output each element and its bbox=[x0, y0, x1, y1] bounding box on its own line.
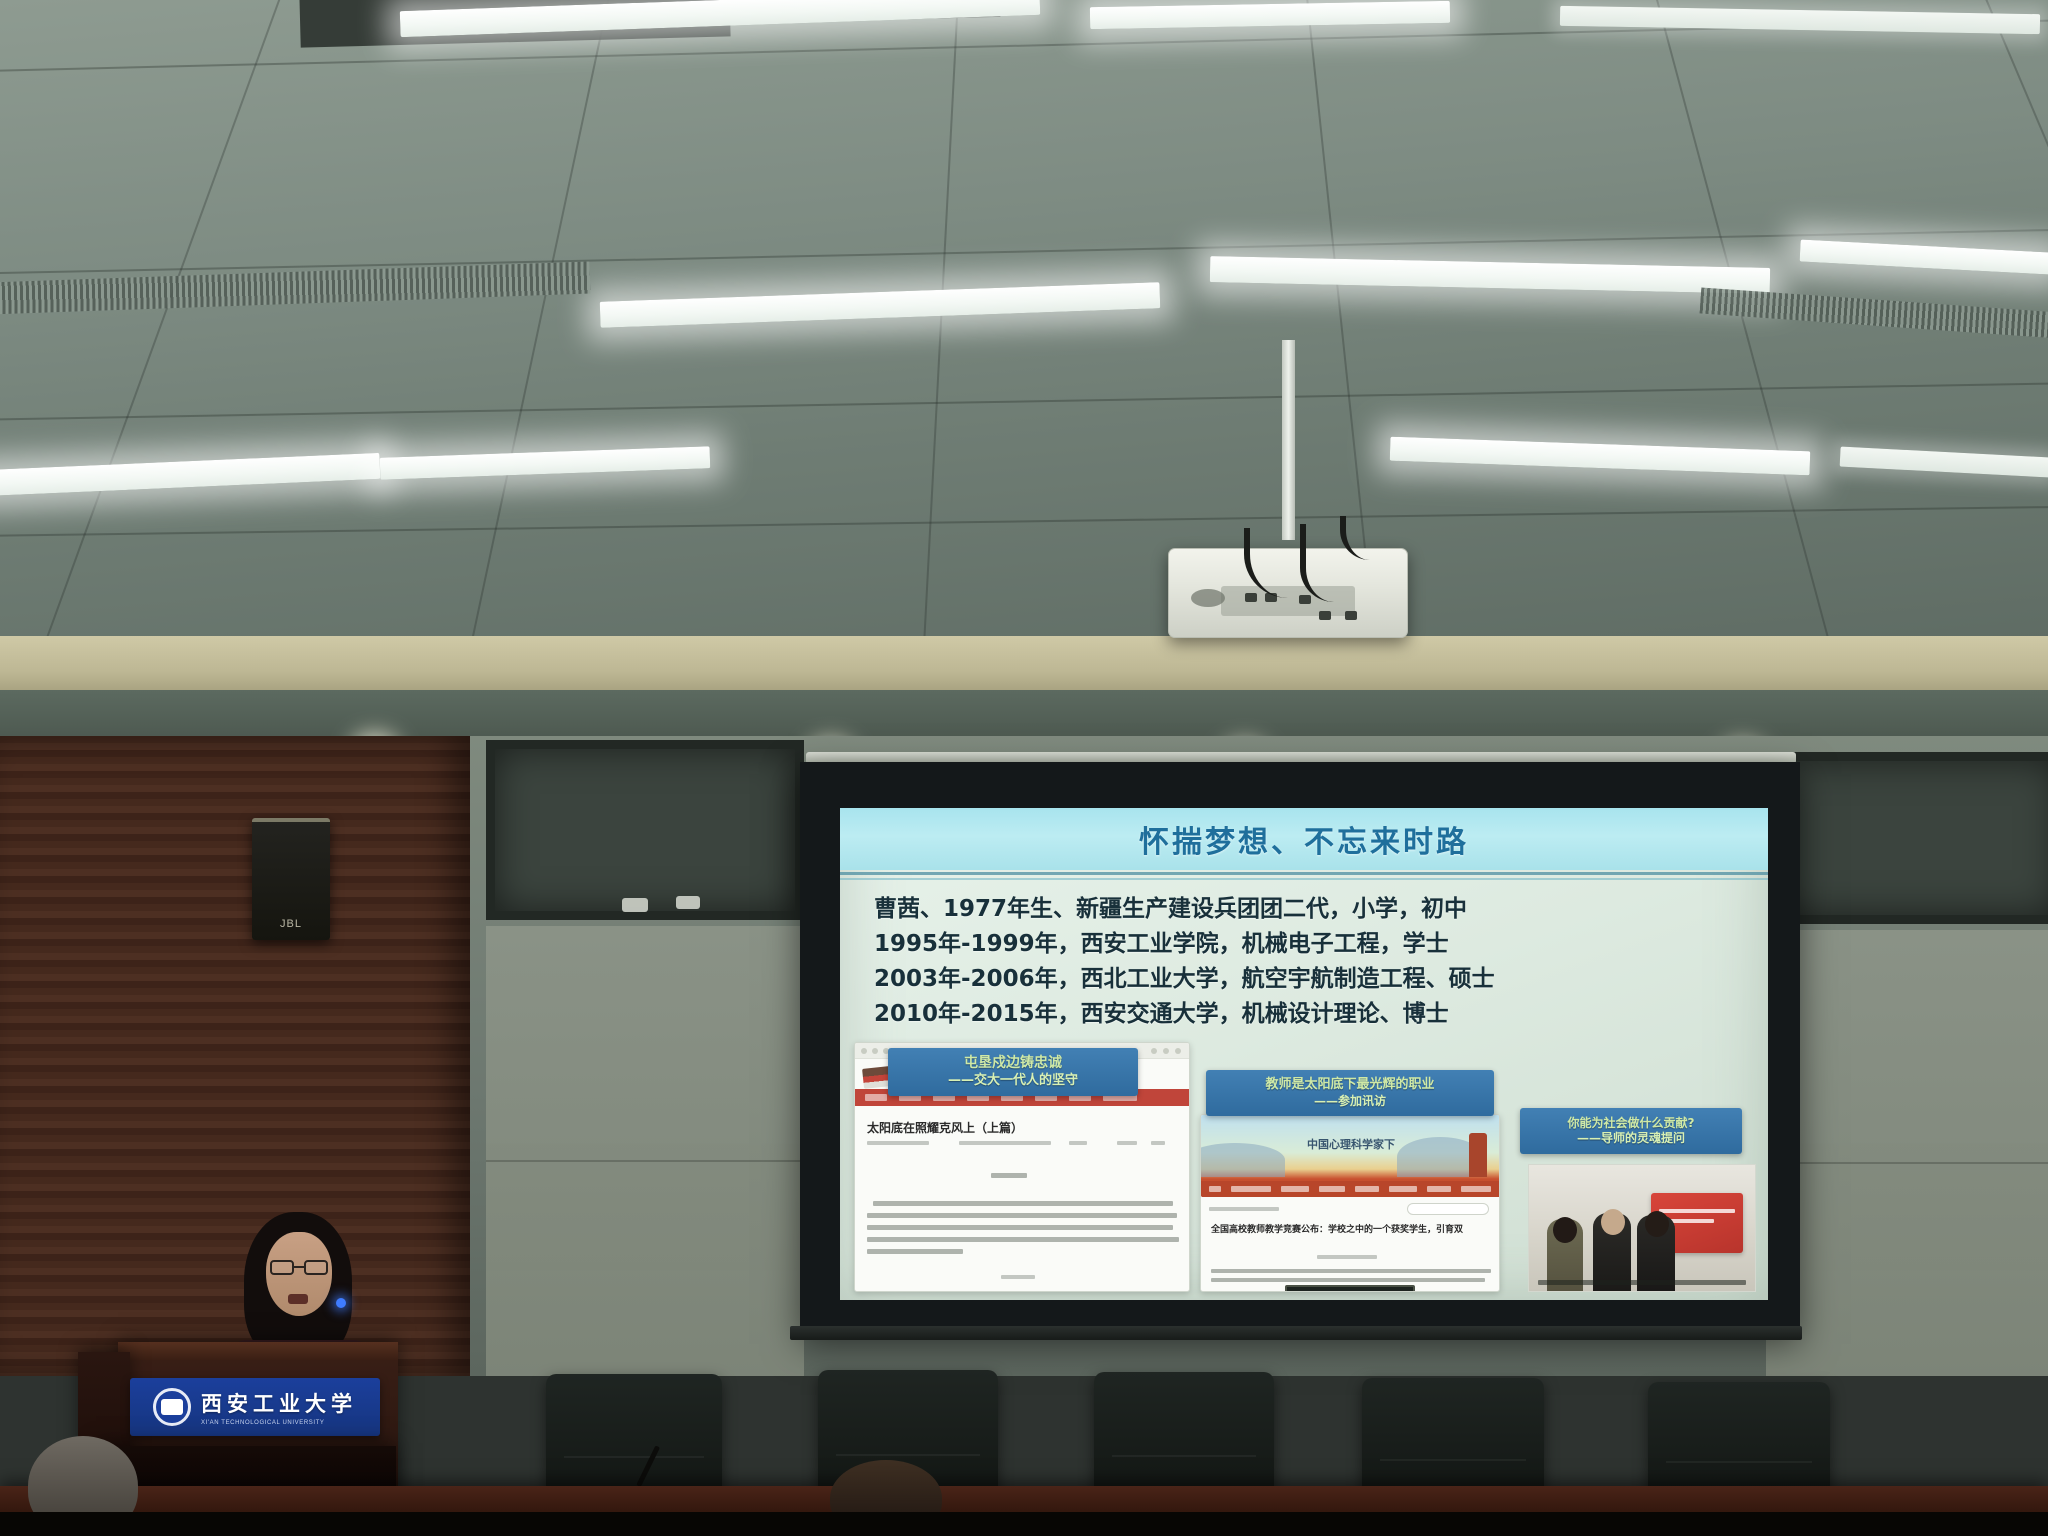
university-logo-icon bbox=[153, 1388, 191, 1426]
card-banner-line2: ——参加讯访 bbox=[1314, 1094, 1386, 1109]
browser-screenshot: 中国心理科学家下 全国高校教师教学竞赛公布：学校之中的一个获奖学生，引育双 bbox=[1200, 1114, 1500, 1292]
card-banner-line2: ——交大一代人的坚守 bbox=[948, 1073, 1078, 1089]
projector-port bbox=[1299, 595, 1311, 604]
card-banner-line2: ——导师的灵魂提问 bbox=[1577, 1131, 1685, 1146]
podium-plate-text: 西安工业大学 XI'AN TECHNOLOGICAL UNIVERSITY bbox=[201, 1388, 357, 1426]
browser-dot bbox=[861, 1048, 867, 1054]
institution-name-en: XI'AN TECHNOLOGICAL UNIVERSITY bbox=[201, 1420, 325, 1426]
lecture-hall-photo: JBL 怀揣梦想、不忘来时路 曹茜、1977年生、新疆生产建设兵团团二代，小学，… bbox=[0, 0, 2048, 1536]
card-banner-line1: 你能为社会做什么贡献? bbox=[1568, 1116, 1695, 1131]
ledge-object bbox=[622, 898, 648, 912]
browser-dot bbox=[1175, 1048, 1181, 1054]
site-hero-title: 中国心理科学家下 bbox=[1307, 1136, 1395, 1152]
slide-body-line: 曹茜、1977年生、新疆生产建设兵团团二代，小学，初中 bbox=[874, 892, 1754, 927]
ceiling bbox=[0, 0, 2048, 680]
award-ceremony-photo bbox=[1528, 1164, 1756, 1292]
slide-title-divider-thin bbox=[840, 878, 1768, 880]
podium-top-surface bbox=[118, 1342, 398, 1360]
mountain-shape bbox=[1201, 1143, 1285, 1177]
card-banner: 屯垦戍边铸忠诚 ——交大一代人的坚守 bbox=[888, 1048, 1138, 1096]
photo-person-head bbox=[1645, 1211, 1669, 1237]
browser-dot bbox=[1163, 1048, 1169, 1054]
article-headline: 全国高校教师教学竞赛公布：学校之中的一个获奖学生，引育双 bbox=[1211, 1223, 1463, 1237]
foreground-shadow bbox=[0, 1512, 2048, 1536]
site-nav-bar bbox=[1201, 1181, 1500, 1197]
article-meta-line bbox=[1317, 1255, 1377, 1259]
article-meta-line bbox=[1069, 1141, 1087, 1145]
article-meta-line bbox=[1117, 1141, 1137, 1145]
slide-card-photo-right: 你能为社会做什么贡献? ——导师的灵魂提问 bbox=[1516, 1108, 1756, 1292]
presenter-glasses-right bbox=[304, 1260, 328, 1275]
article-body-line bbox=[867, 1237, 1179, 1242]
photo-person-head bbox=[1601, 1209, 1625, 1235]
site-search-box[interactable] bbox=[1407, 1203, 1489, 1215]
article-meta-line bbox=[1151, 1141, 1165, 1145]
breadcrumb-line bbox=[1209, 1207, 1279, 1211]
slide-title-band: 怀揣梦想、不忘来时路 bbox=[840, 808, 1768, 870]
ceiling-tile-grid bbox=[0, 0, 2048, 680]
article-body-line bbox=[867, 1249, 963, 1254]
slide-body-line: 2010年-2015年，西安交通大学，机械设计理论、博士 bbox=[874, 997, 1754, 1032]
browser-dot bbox=[872, 1048, 878, 1054]
slide-title-divider bbox=[840, 872, 1768, 875]
photo-caption bbox=[1538, 1280, 1746, 1285]
article-body-line bbox=[867, 1213, 1177, 1218]
wall-speaker: JBL bbox=[252, 818, 330, 940]
photo-person-head bbox=[1553, 1217, 1577, 1243]
article-body-line bbox=[1211, 1278, 1485, 1282]
browser-dot bbox=[1151, 1048, 1157, 1054]
article-body-line bbox=[873, 1201, 1173, 1206]
projector-port bbox=[1245, 593, 1257, 602]
podium-institution-plate: 西安工业大学 XI'AN TECHNOLOGICAL UNIVERSITY bbox=[130, 1378, 380, 1436]
slide-body-line: 1995年-1999年，西安工业学院，机械电子工程，学士 bbox=[874, 927, 1754, 962]
speaker-brand-label: JBL bbox=[280, 918, 302, 930]
slide-body-text: 曹茜、1977年生、新疆生产建设兵团团二代，小学，初中 1995年-1999年，… bbox=[874, 892, 1754, 1032]
projector-port bbox=[1345, 611, 1357, 620]
presenter-mouth bbox=[288, 1294, 308, 1304]
video-thumbnail[interactable] bbox=[1285, 1285, 1415, 1292]
presenter-glasses-bridge bbox=[294, 1266, 304, 1268]
screen-bottom-bar bbox=[790, 1326, 1802, 1340]
article-meta-line bbox=[959, 1141, 1051, 1145]
projector-mount-pole bbox=[1282, 340, 1295, 540]
wall-panel-right bbox=[1766, 930, 2048, 1376]
article-body-line bbox=[867, 1225, 1173, 1230]
card-banner-line1: 屯垦戍边铸忠诚 bbox=[964, 1055, 1062, 1073]
ledge-object bbox=[676, 896, 700, 909]
podium-indicator-led bbox=[336, 1298, 346, 1308]
projector-port bbox=[1319, 611, 1331, 620]
site-hero-banner: 中国心理科学家下 bbox=[1201, 1115, 1500, 1197]
presenter-glasses-left bbox=[270, 1260, 294, 1275]
wall-panel-left bbox=[486, 926, 804, 1376]
card-banner: 你能为社会做什么贡献? ——导师的灵魂提问 bbox=[1520, 1108, 1742, 1154]
slide-title: 怀揣梦想、不忘来时路 bbox=[1139, 817, 1469, 861]
pagoda-tower-icon bbox=[1469, 1133, 1487, 1177]
acoustic-panel-left bbox=[486, 740, 804, 920]
card-banner: 教师是太阳底下最光辉的职业 ——参加讯访 bbox=[1206, 1070, 1494, 1116]
slide-card-news-left: 太阳底在照耀克风上（上篇） 屯垦戍边铸忠诚 ——交大一代人的坚守 bbox=[854, 1042, 1190, 1292]
article-signature bbox=[1001, 1275, 1035, 1279]
acoustic-panel-right bbox=[1766, 752, 2048, 924]
card-banner-line1: 教师是太阳底下最光辉的职业 bbox=[1265, 1077, 1434, 1093]
article-subheading bbox=[991, 1173, 1027, 1178]
slide-body-line: 2003年-2006年，西北工业大学，航空宇航制造工程、硕士 bbox=[874, 962, 1754, 997]
article-body-line bbox=[1211, 1269, 1491, 1273]
slide-card-news-middle: 中国心理科学家下 全国高校教师教学竞赛公布：学校之中的一个获奖学生，引育双 bbox=[1200, 1076, 1500, 1292]
article-meta-line bbox=[867, 1141, 929, 1145]
projector-lens bbox=[1191, 589, 1225, 607]
article-headline: 太阳底在照耀克风上（上篇） bbox=[867, 1119, 1023, 1136]
soffit-shadow-lip bbox=[0, 690, 2048, 736]
presentation-slide: 怀揣梦想、不忘来时路 曹茜、1977年生、新疆生产建设兵团团二代，小学，初中 1… bbox=[840, 808, 1768, 1300]
institution-name-cn: 西安工业大学 bbox=[201, 1388, 357, 1418]
ceiling-soffit bbox=[0, 636, 2048, 696]
